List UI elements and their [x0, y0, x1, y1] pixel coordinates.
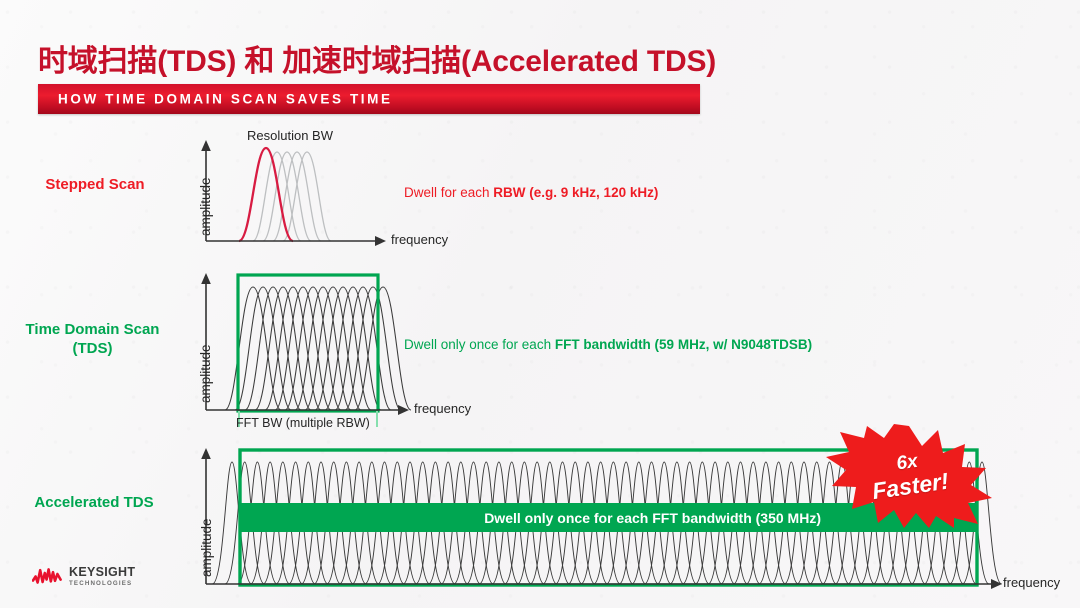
keysight-logo-tagline: TECHNOLOGIES: [69, 581, 135, 587]
tds-curves: [225, 287, 411, 410]
speedup-badge: 6x Faster!: [826, 424, 992, 528]
tds-ylabel: amplitude: [198, 344, 213, 403]
accelerated-tds-xlabel: frequency: [1003, 575, 1060, 590]
tds-annotation-plain: Dwell only once for each: [404, 337, 555, 352]
x-axis-arrow-icon: [991, 579, 1002, 589]
row-label-tds-line1: Time Domain Scan: [0, 320, 185, 339]
stepped-scan-gray-curves: [253, 152, 331, 241]
stepped-scan-ylabel: amplitude: [198, 177, 213, 236]
row-label-tds-line2: (TDS): [0, 339, 185, 358]
tds-xlabel: frequency: [414, 401, 471, 416]
stepped-scan-plot: [195, 130, 420, 255]
stepped-scan-annotation-plain: Dwell for each: [404, 185, 493, 200]
x-axis-arrow-icon: [375, 236, 386, 246]
accelerated-tds-dwell-banner-label: Dwell only once for each FFT bandwidth (…: [484, 510, 821, 526]
y-axis-arrow-icon: [201, 273, 211, 284]
stepped-scan-annotation: Dwell for each RBW (e.g. 9 kHz, 120 kHz): [404, 185, 658, 200]
tds-chart: frequency amplitude FFT BW (multiple RBW…: [195, 265, 435, 425]
section-banner: HOW TIME DOMAIN SCAN SAVES TIME: [38, 84, 700, 114]
tds-annotation-bold: FFT bandwidth (59 MHz, w/ N9048TDSB): [555, 337, 812, 352]
accelerated-tds-ylabel: amplitude: [199, 518, 214, 577]
resolution-bw-callout: Resolution BW: [247, 128, 333, 143]
keysight-logo: KEYSIGHT TECHNOLOGIES: [32, 566, 135, 587]
row-label-time-domain-scan: Time Domain Scan (TDS): [0, 320, 185, 358]
page-title: 时域扫描(TDS) 和 加速时域扫描(Accelerated TDS): [38, 36, 716, 80]
starburst-icon: [826, 424, 992, 528]
row-label-stepped-scan: Stepped Scan: [10, 175, 180, 194]
keysight-waveform-icon: [32, 567, 62, 585]
stepped-scan-chart: Resolution BW frequency amplitude: [195, 130, 420, 255]
y-axis-arrow-icon: [201, 140, 211, 151]
tds-plot: [195, 265, 435, 425]
keysight-logo-name: KEYSIGHT: [69, 566, 135, 579]
tds-annotation: Dwell only once for each FFT bandwidth (…: [404, 337, 812, 352]
keysight-logo-words: KEYSIGHT TECHNOLOGIES: [69, 566, 135, 587]
slide-canvas: 时域扫描(TDS) 和 加速时域扫描(Accelerated TDS) HOW …: [0, 0, 1080, 608]
section-banner-label: HOW TIME DOMAIN SCAN SAVES TIME: [58, 92, 393, 107]
tds-bracket-label: FFT BW (multiple RBW): [236, 416, 370, 430]
stepped-scan-xlabel: frequency: [391, 232, 448, 247]
row-label-accelerated-tds: Accelerated TDS: [8, 493, 180, 512]
stepped-scan-annotation-bold: RBW (e.g. 9 kHz, 120 kHz): [493, 185, 658, 200]
y-axis-arrow-icon: [201, 448, 211, 459]
